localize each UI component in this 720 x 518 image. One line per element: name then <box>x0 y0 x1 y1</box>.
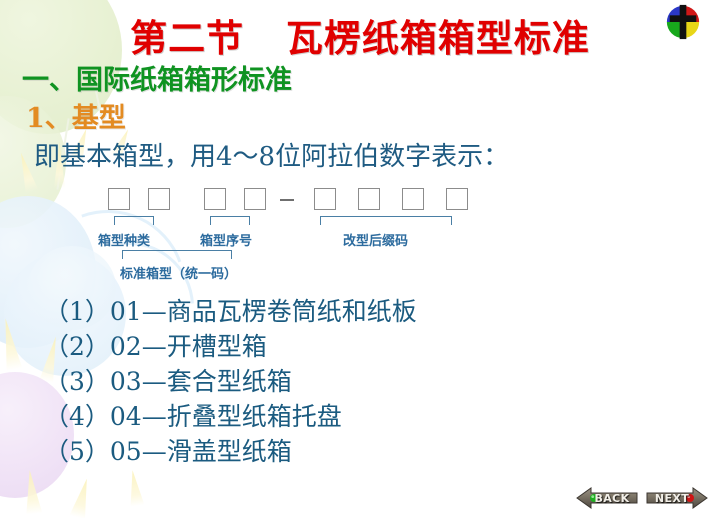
code-box <box>148 188 170 210</box>
code-box <box>358 188 380 210</box>
next-button[interactable]: NEXT <box>646 486 708 510</box>
box-type-list: （1）01—商品瓦楞卷筒纸和纸板 （2）02—开槽型箱 （3）03—套合型纸箱 … <box>44 294 604 469</box>
section-heading: 一、国际纸箱箱形标准 <box>22 58 292 97</box>
list-item: （1）01—商品瓦楞卷筒纸和纸板 <box>44 294 604 329</box>
bracket-group-3 <box>320 216 452 225</box>
code-box <box>108 188 130 210</box>
code-box <box>314 188 336 210</box>
list-item: （2）02—开槽型箱 <box>44 329 604 364</box>
caption-box-type-category: 箱型种类 <box>98 230 150 249</box>
ray-6 <box>22 469 43 514</box>
caption-standard-box-type: 标准箱型（统一码） <box>120 263 237 282</box>
caption-box-type-number: 箱型序号 <box>200 230 252 249</box>
subsection-heading: 1、基型 <box>26 96 126 135</box>
bracket-group-2 <box>210 216 250 225</box>
list-item: （5）05—滑盖型纸箱 <box>44 434 604 469</box>
page-title: 第二节 瓦楞纸箱箱型标准 <box>0 8 720 62</box>
code-box <box>244 188 266 210</box>
ray-7 <box>69 477 94 518</box>
code-box <box>446 188 468 210</box>
code-format-diagram: 箱型种类 箱型序号 改型后缀码 标准箱型（统一码） <box>0 186 720 286</box>
slide-canvas: 第二节 瓦楞纸箱箱型标准 一、国际纸箱箱形标准 1、基型 即基本箱型，用4～8位… <box>0 0 720 518</box>
navigation-controls: BACK NEXT <box>576 486 708 510</box>
code-separator-dash <box>280 199 294 201</box>
code-box <box>204 188 226 210</box>
list-item: （3）03—套合型纸箱 <box>44 364 604 399</box>
list-item: （4）04—折叠型纸箱托盘 <box>44 399 604 434</box>
body-text: 即基本箱型，用4～8位阿拉伯数字表示： <box>34 136 509 173</box>
ray-4 <box>0 317 22 371</box>
back-button[interactable]: BACK <box>576 486 638 510</box>
code-box <box>402 188 424 210</box>
ray-8 <box>126 469 145 507</box>
bracket-group-1 <box>114 216 154 225</box>
bracket-combined <box>122 250 232 259</box>
caption-suffix-code: 改型后缀码 <box>343 230 408 249</box>
